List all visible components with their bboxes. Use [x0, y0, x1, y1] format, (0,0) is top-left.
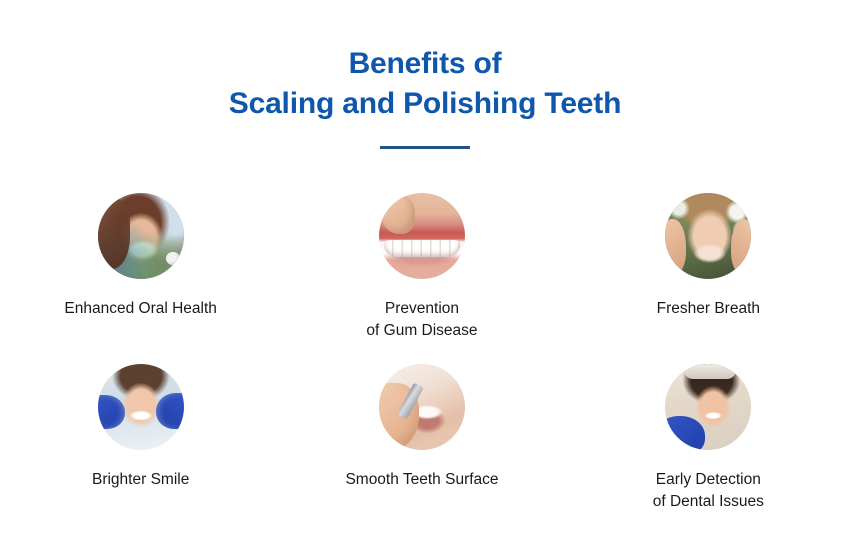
- benefit-caption-line-1: Enhanced Oral Health: [64, 298, 217, 320]
- page-title-line-1: Benefits of: [0, 44, 850, 84]
- smooth-teeth-surface-photo: [379, 364, 465, 450]
- benefit-item-brighter-smile: Brighter Smile: [11, 364, 271, 535]
- enhanced-oral-health-photo-art: [98, 193, 184, 279]
- title-divider: [380, 146, 470, 149]
- brighter-smile-photo: [98, 364, 184, 450]
- gum-disease-photo-art: [379, 193, 465, 279]
- benefit-item-smooth-teeth-surface: Smooth Teeth Surface: [292, 364, 552, 535]
- gum-disease-photo: [379, 193, 465, 279]
- benefit-caption: Enhanced Oral Health: [64, 298, 217, 320]
- header: Benefits of Scaling and Polishing Teeth: [0, 44, 850, 149]
- enhanced-oral-health-photo: [98, 193, 184, 279]
- benefit-caption-line-1: Early Detection: [653, 469, 764, 491]
- benefit-caption: Smooth Teeth Surface: [345, 469, 498, 491]
- benefit-caption-line-1: Smooth Teeth Surface: [345, 469, 498, 491]
- infographic-root: Benefits of Scaling and Polishing Teeth …: [0, 0, 850, 539]
- smooth-teeth-surface-photo-art: [379, 364, 465, 450]
- benefit-item-enhanced-oral-health: Enhanced Oral Health: [11, 193, 271, 364]
- benefit-item-early-detection: Early Detection of Dental Issues: [578, 364, 838, 535]
- benefit-caption: Fresher Breath: [657, 298, 760, 320]
- fresher-breath-photo-art: [665, 193, 751, 279]
- fresher-breath-photo: [665, 193, 751, 279]
- benefits-grid: Enhanced Oral Health Prevention of Gum D…: [0, 193, 850, 535]
- early-detection-photo-art: [665, 364, 751, 450]
- benefit-caption-line-2: of Gum Disease: [366, 320, 477, 342]
- benefit-caption-line-2: of Dental Issues: [653, 491, 764, 513]
- benefit-caption: Brighter Smile: [92, 469, 189, 491]
- benefit-caption-line-1: Fresher Breath: [657, 298, 760, 320]
- page-title-line-2: Scaling and Polishing Teeth: [0, 84, 850, 124]
- brighter-smile-photo-art: [98, 364, 184, 450]
- benefit-item-fresher-breath: Fresher Breath: [578, 193, 838, 364]
- benefit-caption-line-1: Brighter Smile: [92, 469, 189, 491]
- benefit-caption: Prevention of Gum Disease: [366, 298, 477, 342]
- benefit-caption: Early Detection of Dental Issues: [653, 469, 764, 513]
- benefit-item-prevention-of-gum-disease: Prevention of Gum Disease: [292, 193, 552, 364]
- page-title: Benefits of Scaling and Polishing Teeth: [0, 44, 850, 124]
- benefit-caption-line-1: Prevention: [366, 298, 477, 320]
- early-detection-photo: [665, 364, 751, 450]
